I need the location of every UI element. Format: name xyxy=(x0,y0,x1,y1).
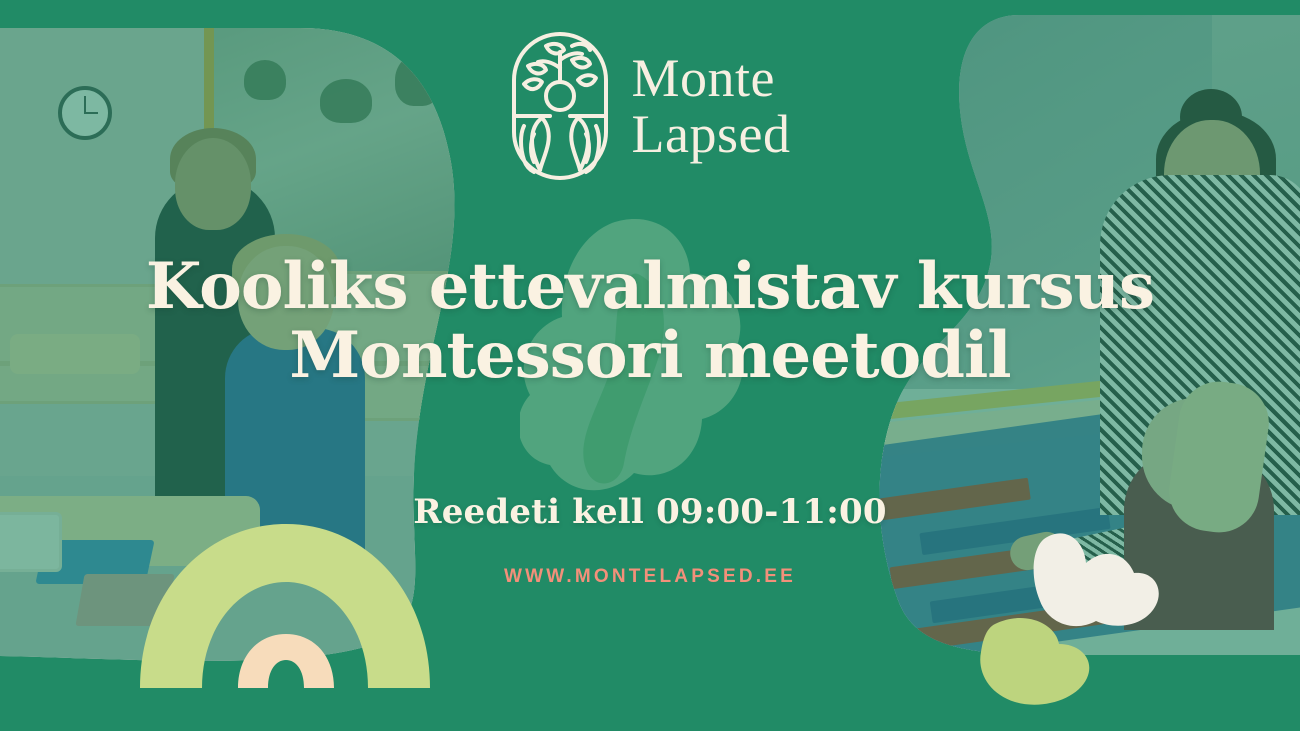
website-url[interactable]: WWW.MONTELAPSED.EE xyxy=(0,566,1300,588)
schedule-text: Reedeti kell 09:00-11:00 xyxy=(0,492,1300,532)
brand-lockup: Monte Lapsed xyxy=(0,30,1300,182)
rainbow-decoration xyxy=(140,520,430,690)
headline-line2: Montessori meetodil xyxy=(0,321,1300,390)
brand-wordmark: Monte Lapsed xyxy=(632,50,791,162)
brand-name-line2: Lapsed xyxy=(632,106,791,162)
headline: Kooliks ettevalmistav kursus Montessori … xyxy=(0,252,1300,390)
headline-line1: Kooliks ettevalmistav kursus xyxy=(0,252,1300,321)
montelapsed-tree-children-logo-icon xyxy=(510,30,610,182)
brand-name-line1: Monte xyxy=(632,50,791,106)
promo-poster: Monte Lapsed Kooliks ettevalmistav kursu… xyxy=(0,0,1300,731)
leaf-blob-green-decoration xyxy=(977,616,1102,711)
